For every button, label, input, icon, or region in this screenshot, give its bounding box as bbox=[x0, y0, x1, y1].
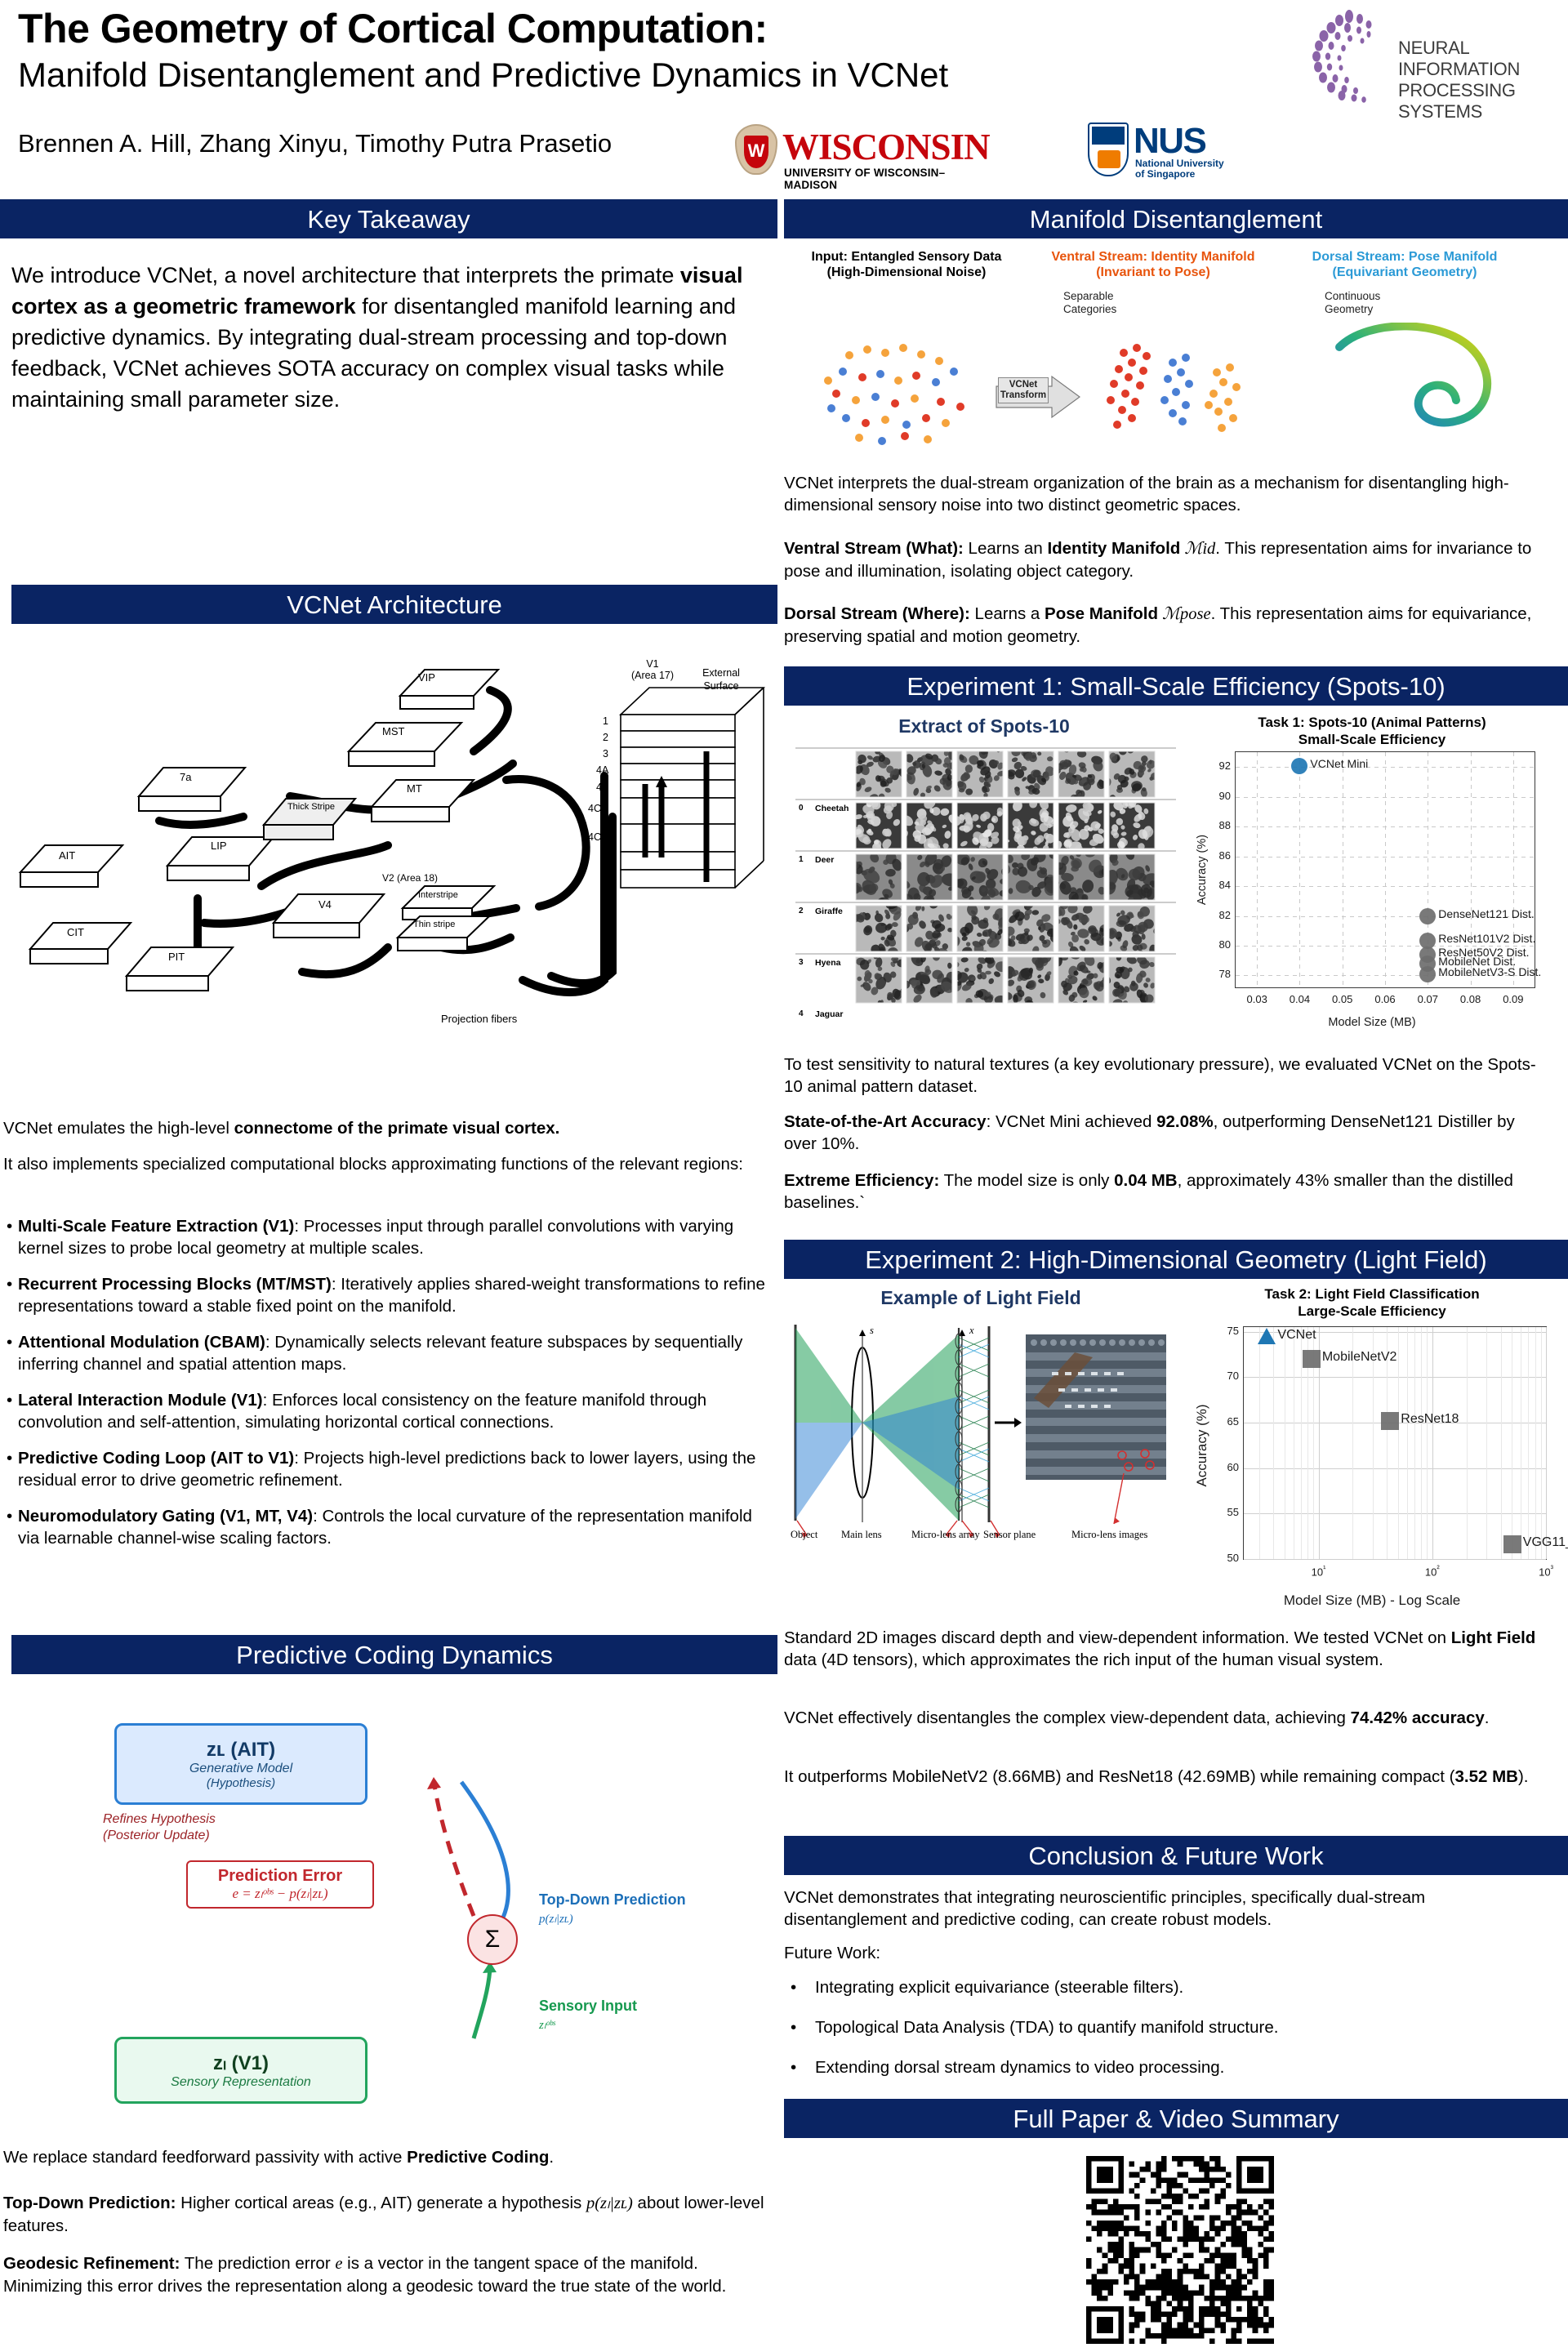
minor-grid-line bbox=[1427, 1327, 1428, 1559]
manifold-col3-sub: ContinuousGeometry bbox=[1325, 290, 1380, 316]
uw-tagline: UNIVERSITY OF WISCONSIN–MADISON bbox=[784, 167, 996, 191]
author-list: Brennen A. Hill, Zhang Xinyu, Timothy Pu… bbox=[18, 129, 612, 158]
section-header-predictive: Predictive Coding Dynamics bbox=[11, 1635, 777, 1674]
v1-layer-1: 1 bbox=[603, 715, 608, 727]
spots-row-index: 1 bbox=[799, 855, 804, 864]
y-tick-label: 50 bbox=[1211, 1552, 1239, 1564]
v1-title: V1(Area 17) bbox=[622, 658, 683, 681]
conclusion-paragraph: VCNet demonstrates that integrating neur… bbox=[784, 1886, 1552, 1931]
grid-line bbox=[1385, 752, 1386, 987]
minor-grid-line bbox=[1407, 1327, 1408, 1559]
node-label-mt: MT bbox=[407, 782, 422, 795]
poster-header: The Geometry of Cortical Computation: Ma… bbox=[0, 0, 1568, 196]
minor-grid-line bbox=[1301, 1327, 1302, 1559]
minor-grid-line bbox=[1285, 1327, 1285, 1559]
experiment1-paragraph-2: State-of-the-Art Accuracy: VCNet Mini ac… bbox=[784, 1111, 1552, 1155]
list-item: •Predictive Coding Loop (AIT to V1): Pro… bbox=[7, 1447, 774, 1491]
list-item: •Topological Data Analysis (TDA) to quan… bbox=[791, 2016, 1550, 2038]
grid-line bbox=[1299, 752, 1300, 987]
cortex-connectome-diagram: VIP MST MT 7a LIP AIT CIT PIT V4 V2 (Are… bbox=[16, 653, 768, 1086]
lf-label-sensor-plane: Sensor plane bbox=[983, 1529, 1036, 1541]
y-tick-label: 70 bbox=[1211, 1370, 1239, 1382]
architecture-bullet-list: •Multi-Scale Feature Extraction (V1): Pr… bbox=[7, 1215, 774, 1563]
data-point-label: MobileNetV2 bbox=[1322, 1350, 1397, 1365]
predictive-paragraph-1: We replace standard feedforward passivit… bbox=[3, 2146, 771, 2168]
neurips-dots-icon bbox=[1290, 5, 1396, 111]
experiment1-paragraph-1: To test sensitivity to natural textures … bbox=[784, 1053, 1552, 1098]
qr-code[interactable] bbox=[1086, 2156, 1274, 2344]
spots-row-name: Deer bbox=[815, 855, 834, 865]
data-point-circle bbox=[1419, 908, 1436, 924]
y-tick-label: 78 bbox=[1203, 968, 1231, 980]
predictive-paragraph-3: Geodesic Refinement: The prediction erro… bbox=[3, 2252, 771, 2297]
v1-layer-4a: 4A bbox=[596, 764, 608, 776]
sensory-input-label: Sensory Input bbox=[539, 1998, 637, 2015]
chart-task2-large-scale: Task 2: Light Field ClassificationLarge-… bbox=[1184, 1284, 1560, 1610]
minor-grid-line bbox=[1398, 1327, 1399, 1559]
v1-layer-4b: 4B bbox=[596, 782, 608, 793]
data-point-label: MobileNetV3-S Dist. bbox=[1438, 965, 1541, 978]
chart-x-axis-title: Model Size (MB) bbox=[1184, 1016, 1560, 1029]
refines-hypothesis-label: Refines Hypothesis(Posterior Update) bbox=[103, 1811, 216, 1844]
chart-x-axis-title: Model Size (MB) - Log Scale bbox=[1184, 1592, 1560, 1609]
light-field-diagram: Example of Light Field bbox=[789, 1287, 1173, 1589]
minor-grid-line bbox=[1521, 1327, 1521, 1559]
list-item: •Integrating explicit equivariance (stee… bbox=[791, 1976, 1550, 1998]
section-header-key-takeaway: Key Takeaway bbox=[0, 199, 777, 238]
minor-grid-line bbox=[1541, 1327, 1542, 1559]
manifold-col2-label: Ventral Stream: Identity Manifold(Invari… bbox=[1031, 249, 1276, 280]
minor-grid-line bbox=[1486, 1327, 1487, 1559]
v1-layer-4calpha: 4Cα bbox=[588, 803, 607, 814]
chart-task1-small-scale: Task 1: Spots-10 (Animal Patterns)Small-… bbox=[1184, 712, 1560, 1031]
x-tick-label: 10² bbox=[1410, 1565, 1455, 1578]
v1-external-surface-label: ExternalSurface bbox=[689, 666, 753, 693]
experiment2-paragraph-2: VCNet effectively disentangles the compl… bbox=[784, 1707, 1552, 1729]
architecture-paragraph-2: It also implements specialized computati… bbox=[3, 1153, 771, 1175]
node-label-ait: AIT bbox=[59, 849, 75, 862]
manifold-paragraph-2: Ventral Stream (What): Learns an Identit… bbox=[784, 537, 1552, 582]
experiment1-paragraph-3: Extreme Efficiency: The model size is on… bbox=[784, 1169, 1552, 1214]
v1-layer-4cbeta: 4Cβ bbox=[588, 831, 607, 843]
uw-madison-logo: WISCONSIN UNIVERSITY OF WISCONSIN–MADISO… bbox=[735, 124, 996, 181]
architecture-paragraph-1: VCNet emulates the high-level connectome… bbox=[3, 1117, 771, 1139]
sensory-input-formula: zₗᵒᵇˢ bbox=[539, 2017, 555, 2033]
data-point-label: VCNet bbox=[1277, 1328, 1316, 1343]
key-takeaway-text: We introduce VCNet, a novel architecture… bbox=[11, 260, 771, 415]
neurips-wordmark: NEURAL INFORMATION PROCESSING SYSTEMS bbox=[1398, 38, 1568, 122]
lf-label-object: Object bbox=[791, 1529, 817, 1541]
spots-row-name: Giraffe bbox=[815, 906, 843, 916]
grid-line bbox=[1244, 1559, 1546, 1560]
nus-wordmark: NUS bbox=[1134, 121, 1205, 162]
poster-root: The Geometry of Cortical Computation: Ma… bbox=[0, 0, 1568, 2352]
manifold-col3-label: Dorsal Stream: Pose Manifold(Equivariant… bbox=[1278, 249, 1531, 280]
node-label-thick-stripe: Thick Stripe bbox=[287, 801, 336, 813]
spots-row-name: Jaguar bbox=[815, 1009, 843, 1019]
x-tick-label: 0.03 bbox=[1234, 993, 1280, 1005]
section-header-paper: Full Paper & Video Summary bbox=[784, 2099, 1568, 2138]
manifold-col2-sub: SeparableCategories bbox=[1063, 290, 1116, 316]
neurips-logo: NEURAL INFORMATION PROCESSING SYSTEMS bbox=[1290, 5, 1568, 111]
lf-axis-s: s bbox=[870, 1325, 874, 1337]
x-tick-label: 0.08 bbox=[1448, 993, 1494, 1005]
node-label-interstripe: Interstripe bbox=[418, 890, 458, 900]
node-label-7a: 7a bbox=[180, 771, 191, 783]
x-tick-label: 10³ bbox=[1523, 1565, 1568, 1578]
chart-plot-area: 50556065707510¹10²10³VCNetMobileNetV2Res… bbox=[1243, 1326, 1547, 1560]
projection-fibers-label: Projection fibers bbox=[441, 1013, 517, 1025]
data-point-label: DenseNet121 Dist. bbox=[1438, 907, 1535, 920]
nus-shield-icon bbox=[1088, 122, 1129, 176]
data-point-label: VGG11_BN bbox=[1523, 1535, 1568, 1550]
uw-wordmark: WISCONSIN bbox=[782, 126, 990, 168]
x-tick-label: 0.07 bbox=[1405, 993, 1450, 1005]
prediction-error-box: Prediction Error e = zₗᵒᵇˢ − p(zₗ|zʟ) bbox=[186, 1860, 374, 1909]
spots-row-name: Cheetah bbox=[815, 804, 849, 813]
minor-grid-line bbox=[1512, 1327, 1512, 1559]
minor-grid-line bbox=[1259, 1327, 1260, 1559]
node-label-vip: VIP bbox=[418, 671, 435, 684]
section-header-architecture: VCNet Architecture bbox=[11, 585, 777, 624]
y-tick-label: 75 bbox=[1211, 1325, 1239, 1337]
grid-line bbox=[1343, 752, 1343, 987]
minor-grid-line bbox=[1501, 1327, 1502, 1559]
top-down-prediction-formula: p(zₗ|zʟ) bbox=[539, 1911, 573, 1927]
x-tick-label: 0.04 bbox=[1276, 993, 1322, 1005]
vcnet-transform-label: VCNetTransform bbox=[998, 377, 1049, 403]
data-point-square bbox=[1303, 1350, 1321, 1368]
y-tick-label: 55 bbox=[1211, 1506, 1239, 1518]
v1-layer-5: 5 bbox=[603, 854, 608, 866]
identity-manifold-scatter bbox=[1086, 327, 1258, 457]
x-tick-label: 10¹ bbox=[1296, 1565, 1342, 1578]
future-work-list: •Integrating explicit equivariance (stee… bbox=[791, 1976, 1550, 2096]
page-title: The Geometry of Cortical Computation: bbox=[18, 5, 768, 52]
list-item: •Lateral Interaction Module (V1): Enforc… bbox=[7, 1389, 774, 1433]
chart-y-axis-title: Accuracy (%) bbox=[1194, 1364, 1210, 1527]
lf-label-microlens-array: Micro-lens array bbox=[911, 1529, 980, 1541]
minor-grid-line bbox=[1421, 1327, 1422, 1559]
node-label-pit: PIT bbox=[168, 951, 185, 963]
list-item: •Recurrent Processing Blocks (MT/MST): I… bbox=[7, 1273, 774, 1317]
chart-title: Task 1: Spots-10 (Animal Patterns)Small-… bbox=[1184, 714, 1560, 748]
grid-line bbox=[1546, 1327, 1547, 1559]
chart-plot-area: 78808284868890920.030.040.050.060.070.08… bbox=[1235, 751, 1535, 988]
y-tick-label: 60 bbox=[1211, 1461, 1239, 1473]
nus-tagline: National University of Singapore bbox=[1135, 158, 1224, 180]
y-tick-label: 65 bbox=[1211, 1415, 1239, 1428]
top-down-prediction-label: Top-Down Prediction bbox=[539, 1891, 686, 1909]
future-work-label: Future Work: bbox=[784, 1942, 1552, 1964]
data-point-triangle bbox=[1258, 1328, 1276, 1344]
list-item: •Extending dorsal stream dynamics to vid… bbox=[791, 2056, 1550, 2078]
experiment2-paragraph-3: It outperforms MobileNetV2 (8.66MB) and … bbox=[784, 1766, 1552, 1788]
manifold-paragraph-1: VCNet interprets the dual-stream organiz… bbox=[784, 472, 1552, 516]
node-label-mst: MST bbox=[382, 725, 404, 737]
minor-grid-line bbox=[1273, 1327, 1274, 1559]
list-item: •Attentional Modulation (CBAM): Dynamica… bbox=[7, 1331, 774, 1375]
minor-grid-line bbox=[1414, 1327, 1415, 1559]
pose-manifold-curve bbox=[1323, 323, 1511, 465]
x-tick-label: 0.06 bbox=[1362, 993, 1408, 1005]
data-point-square bbox=[1381, 1412, 1399, 1430]
page-subtitle: Manifold Disentanglement and Predictive … bbox=[18, 56, 948, 95]
minor-grid-line bbox=[1528, 1327, 1529, 1559]
node-label-thin-stripe: Thin stripe bbox=[413, 920, 455, 929]
node-label-cit: CIT bbox=[67, 926, 84, 938]
spots-row-index: 4 bbox=[799, 1009, 804, 1018]
manifold-paragraph-3: Dorsal Stream (Where): Learns a Pose Man… bbox=[784, 603, 1552, 648]
spots-row-index: 3 bbox=[799, 958, 804, 967]
minor-grid-line bbox=[1535, 1327, 1536, 1559]
v1-layer-3: 3 bbox=[603, 748, 608, 759]
minor-grid-line bbox=[1467, 1327, 1468, 1559]
chart-y-axis-title: Accuracy (%) bbox=[1196, 788, 1209, 951]
predictive-paragraph-2: Top-Down Prediction: Higher cortical are… bbox=[3, 2192, 771, 2237]
uw-crest-icon bbox=[735, 124, 777, 175]
list-item: •Neuromodulatory Gating (V1, MT, V4): Co… bbox=[7, 1505, 774, 1549]
manifold-col1-label: Input: Entangled Sensory Data(High-Dimen… bbox=[784, 249, 1029, 280]
section-header-conclusion: Conclusion & Future Work bbox=[784, 1836, 1568, 1875]
x-tick-label: 0.09 bbox=[1490, 993, 1536, 1005]
chart-title: Task 2: Light Field ClassificationLarge-… bbox=[1184, 1285, 1560, 1320]
entangled-scatter-plot bbox=[817, 327, 996, 457]
node-label-v4: V4 bbox=[318, 898, 332, 911]
lf-label-main-lens: Main lens bbox=[841, 1529, 882, 1541]
grid-line bbox=[1257, 752, 1258, 987]
zL-ait-node: zʟ (AIT) Generative Model (Hypothesis) bbox=[114, 1723, 367, 1805]
summation-node: Σ bbox=[467, 1914, 518, 1965]
nus-logo: NUS National University of Singapore bbox=[1088, 122, 1267, 181]
lf-axis-x: x bbox=[969, 1325, 974, 1337]
list-item: •Multi-Scale Feature Extraction (V1): Pr… bbox=[7, 1215, 774, 1259]
data-point-circle bbox=[1419, 966, 1436, 982]
grid-line bbox=[1432, 1327, 1433, 1559]
spots-row-index: 2 bbox=[799, 906, 804, 915]
node-label-lip: LIP bbox=[211, 840, 227, 852]
v1-layer-6: 6 bbox=[603, 871, 608, 883]
minor-grid-line bbox=[1294, 1327, 1294, 1559]
x-tick-label: 0.05 bbox=[1320, 993, 1365, 1005]
section-header-experiment1: Experiment 1: Small-Scale Efficiency (Sp… bbox=[784, 666, 1568, 706]
section-header-experiment2: Experiment 2: High-Dimensional Geometry … bbox=[784, 1240, 1568, 1279]
data-point-circle bbox=[1291, 758, 1307, 774]
y-tick-label: 92 bbox=[1203, 759, 1231, 772]
v1-layer-2: 2 bbox=[603, 732, 608, 743]
section-header-manifold: Manifold Disentanglement bbox=[784, 199, 1568, 238]
spots-row-name: Hyena bbox=[815, 958, 841, 968]
zl-v1-node: zₗ (V1) Sensory Representation bbox=[114, 2037, 367, 2104]
spots10-sample-grid: Extract of Spots-10 0 Cheetah 1 Deer 2 G… bbox=[792, 715, 1176, 1026]
node-label-v2: V2 (Area 18) bbox=[382, 872, 438, 884]
lf-label-microlens-images: Micro-lens images bbox=[1071, 1529, 1147, 1541]
experiment2-paragraph-1: Standard 2D images discard depth and vie… bbox=[784, 1627, 1552, 1671]
spots-row-index: 0 bbox=[799, 804, 804, 813]
data-point-square bbox=[1503, 1535, 1521, 1553]
data-point-label: ResNet18 bbox=[1401, 1412, 1459, 1427]
data-point-label: VCNet Mini bbox=[1310, 757, 1368, 770]
predictive-coding-diagram: zʟ (AIT) Generative Model (Hypothesis) R… bbox=[16, 1687, 776, 2047]
data-point-label: ResNet101V2 Dist. bbox=[1438, 932, 1535, 945]
